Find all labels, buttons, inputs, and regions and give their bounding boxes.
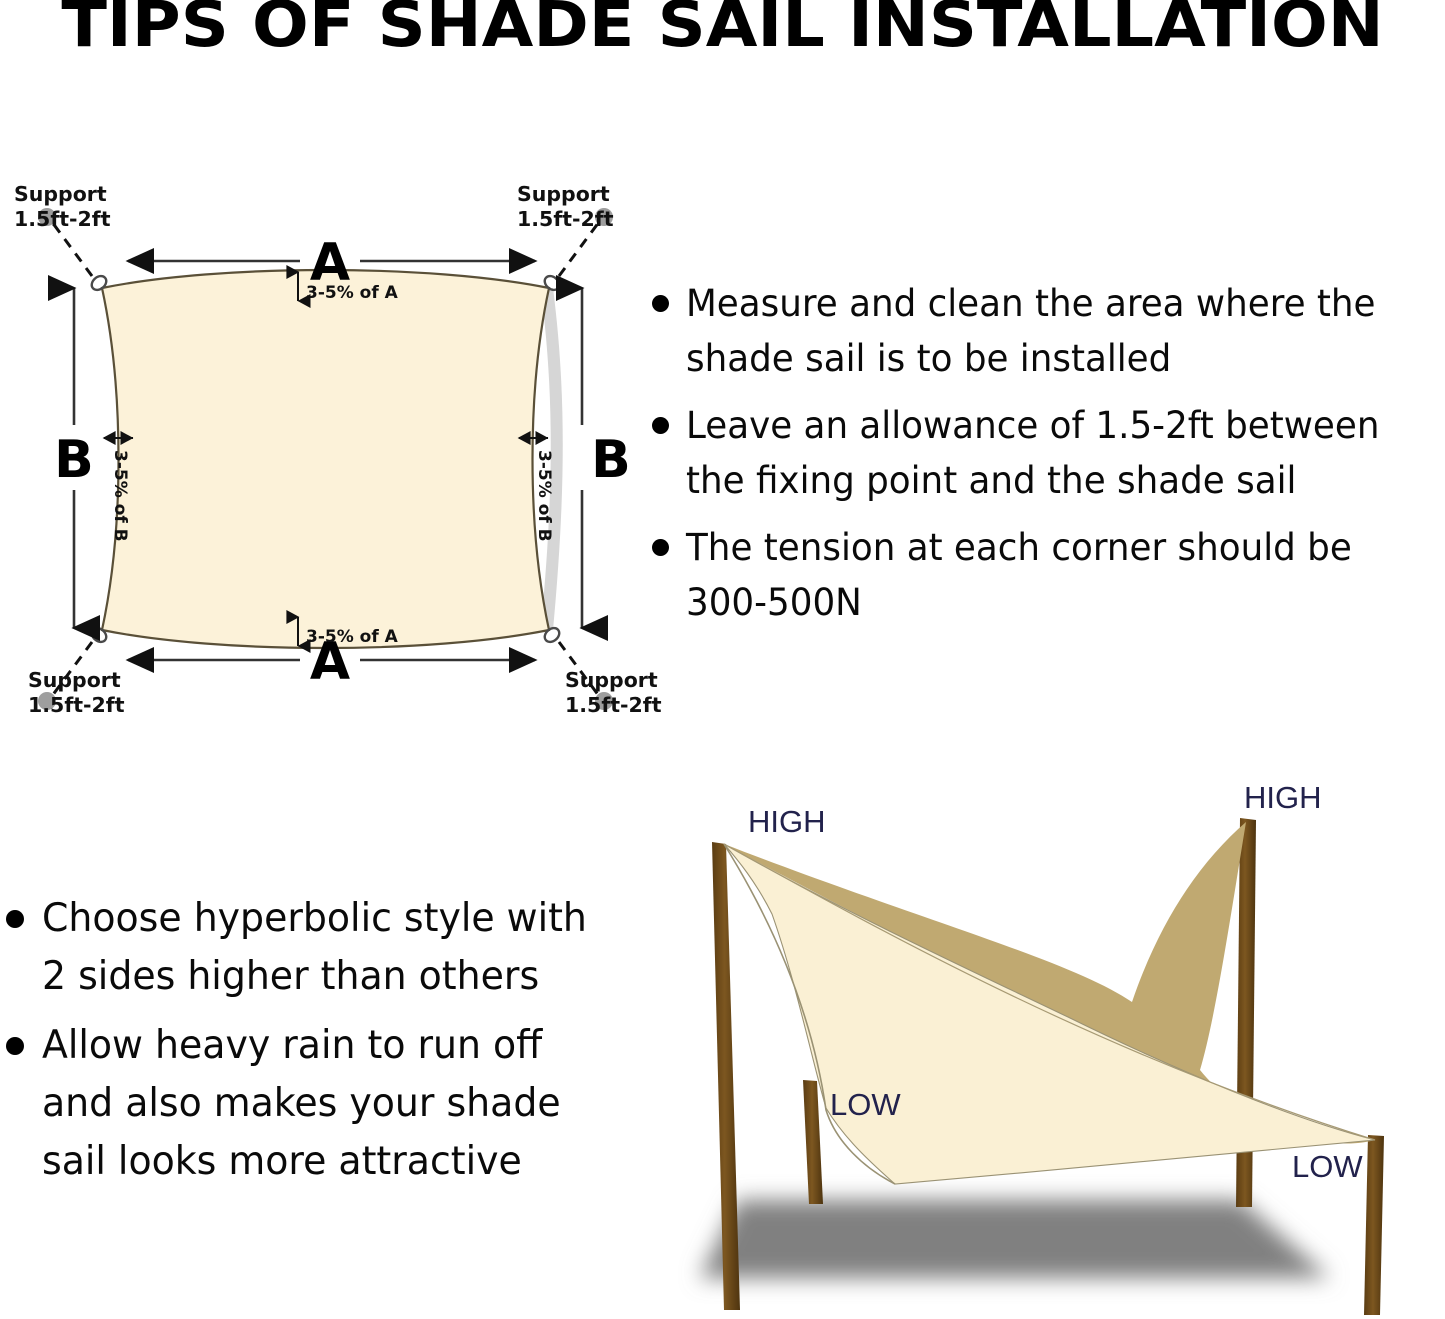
support-label-line2: 1.5ft-2ft bbox=[28, 693, 125, 718]
label-high-left: HIGH bbox=[748, 804, 826, 839]
pole-high-left bbox=[712, 842, 740, 1310]
curve-annotation-top-text: 3-5% of A bbox=[306, 283, 399, 303]
support-label-line1: Support bbox=[565, 668, 662, 693]
dimension-label-b-right: B bbox=[591, 430, 631, 490]
support-label-bottom-right: Support 1.5ft-2ft bbox=[565, 668, 662, 718]
shade-sail-shape bbox=[102, 270, 549, 648]
dimension-b-left: B bbox=[54, 288, 94, 628]
curve-annotation-bottom-text: 3-5% of A bbox=[306, 627, 399, 647]
curve-annotation-left: 3-5% of B bbox=[104, 438, 133, 542]
support-label-top-right: Support 1.5ft-2ft bbox=[517, 182, 614, 232]
pole-low-right bbox=[1364, 1135, 1384, 1315]
list-item-text: Allow heavy rain to run off and also mak… bbox=[42, 1017, 608, 1191]
dimension-b-right: B bbox=[582, 288, 631, 628]
curve-annotation-right-text: 3-5% of B bbox=[534, 450, 554, 542]
bullet-dot-icon bbox=[652, 417, 669, 434]
page-title: TIPS OF SHADE SAIL INSTALLATION bbox=[0, 0, 1445, 64]
dimension-label-b-left: B bbox=[54, 430, 94, 490]
support-label-line1: Support bbox=[517, 182, 614, 207]
list-item-text: Measure and clean the area where the sha… bbox=[686, 276, 1418, 386]
label-high-right: HIGH bbox=[1244, 780, 1322, 815]
support-label-line2: 1.5ft-2ft bbox=[517, 207, 614, 232]
bullet-dot-icon bbox=[652, 295, 669, 312]
curve-annotation-left-text: 3-5% of B bbox=[110, 450, 130, 542]
installation-tips-list: Measure and clean the area where the sha… bbox=[652, 276, 1445, 642]
support-label-line2: 1.5ft-2ft bbox=[565, 693, 662, 718]
ground-shadow bbox=[700, 1200, 1330, 1278]
support-label-line1: Support bbox=[28, 668, 125, 693]
bullet-dot-icon bbox=[652, 539, 669, 556]
hyperbolic-sail-diagram: HIGH HIGH LOW LOW bbox=[640, 770, 1445, 1319]
bullet-dot-icon bbox=[6, 1037, 24, 1055]
support-label-line1: Support bbox=[14, 182, 111, 207]
hyperbolic-tips-list: Choose hyperbolic style with 2 sides hig… bbox=[6, 890, 626, 1202]
bullet-dot-icon bbox=[6, 910, 24, 928]
support-label-line2: 1.5ft-2ft bbox=[14, 207, 111, 232]
pole-low-left bbox=[803, 1080, 823, 1204]
list-item: Allow heavy rain to run off and also mak… bbox=[6, 1017, 626, 1191]
label-low-left: LOW bbox=[830, 1087, 901, 1122]
list-item: The tension at each corner should be 300… bbox=[652, 520, 1445, 630]
support-label-top-left: Support 1.5ft-2ft bbox=[14, 182, 111, 232]
support-label-bottom-left: Support 1.5ft-2ft bbox=[28, 668, 125, 718]
list-item: Leave an allowance of 1.5-2ft between th… bbox=[652, 398, 1445, 508]
list-item: Measure and clean the area where the sha… bbox=[652, 276, 1445, 386]
list-item-text: Choose hyperbolic style with 2 sides hig… bbox=[42, 890, 608, 1006]
list-item: Choose hyperbolic style with 2 sides hig… bbox=[6, 890, 626, 1006]
list-item-text: The tension at each corner should be 300… bbox=[686, 520, 1418, 630]
label-low-right: LOW bbox=[1292, 1149, 1363, 1184]
list-item-text: Leave an allowance of 1.5-2ft between th… bbox=[686, 398, 1418, 508]
rectangular-sail-diagram: A A B B 3-5% of A 3-5% of A 3-5% of B 3-… bbox=[0, 160, 660, 740]
